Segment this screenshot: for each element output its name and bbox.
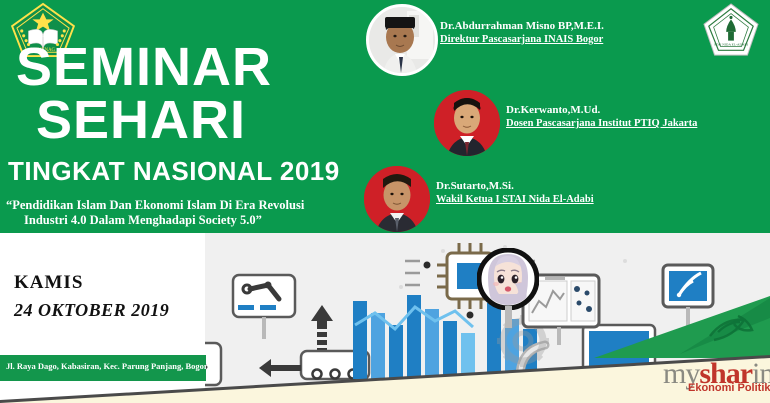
- hijab-avatar-icon: [477, 248, 539, 310]
- poster-theme-line2: Industri 4.0 Dalam Menghadapi Society 5.…: [24, 213, 262, 227]
- poster-theme-line1: “Pendidikan Islam Dan Ekonomi Islam Di E…: [6, 198, 304, 212]
- speaker-role-2: Dosen Pascasarjana Institut PTIQ Jakarta: [506, 117, 697, 130]
- avatar-stand: [505, 306, 512, 328]
- speaker-name-3: Dr.Sutarto,M.Si.: [436, 180, 594, 193]
- stai-logo: STAI NIDA EL-ADABI: [700, 2, 762, 58]
- seminar-poster: KEMENAG STAI NIDA EL-ADABI SEMINAR SEHAR…: [0, 0, 770, 403]
- event-day: KAMIS: [14, 272, 83, 294]
- speaker-photo-1: [366, 4, 438, 76]
- speaker-name-1: Dr.Abdurrahman Misno BP,M.E.I.: [440, 20, 604, 33]
- speaker-name-2: Dr.Kerwanto,M.Ud.: [506, 104, 697, 117]
- speaker-role-3: Wakil Ketua I STAI Nida El-Adabi: [436, 193, 594, 206]
- speaker-role-1: Direktur Pascasarjana INAIS Bogor: [440, 33, 604, 46]
- event-address: Jl. Raya Dago, Kabasiran, Kec. Parung Pa…: [6, 361, 208, 371]
- speaker-photo-2: [432, 88, 502, 158]
- event-date: 24 OKTOBER 2019: [14, 300, 169, 321]
- speaker-info-1: Dr.Abdurrahman Misno BP,M.E.I. Direktur …: [440, 20, 604, 46]
- poster-title-line2: SEHARI: [36, 97, 246, 143]
- speaker-info-2: Dr.Kerwanto,M.Ud. Dosen Pascasarjana Ins…: [506, 104, 697, 130]
- speaker-info-3: Dr.Sutarto,M.Si. Wakil Ketua I STAI Nida…: [436, 180, 594, 206]
- green-ribbon-decoration: [560, 296, 770, 366]
- speaker-photo-3: [362, 164, 432, 234]
- robot-arm-screen-center: [233, 275, 295, 317]
- poster-subtitle: TINGKAT NASIONAL 2019: [8, 158, 340, 184]
- poster-title-line1: SEMINAR: [16, 44, 272, 90]
- svg-text:STAI NIDA EL-ADABI: STAI NIDA EL-ADABI: [714, 42, 749, 46]
- brand-tagline: Ekonomi Politik Islam: [688, 382, 770, 394]
